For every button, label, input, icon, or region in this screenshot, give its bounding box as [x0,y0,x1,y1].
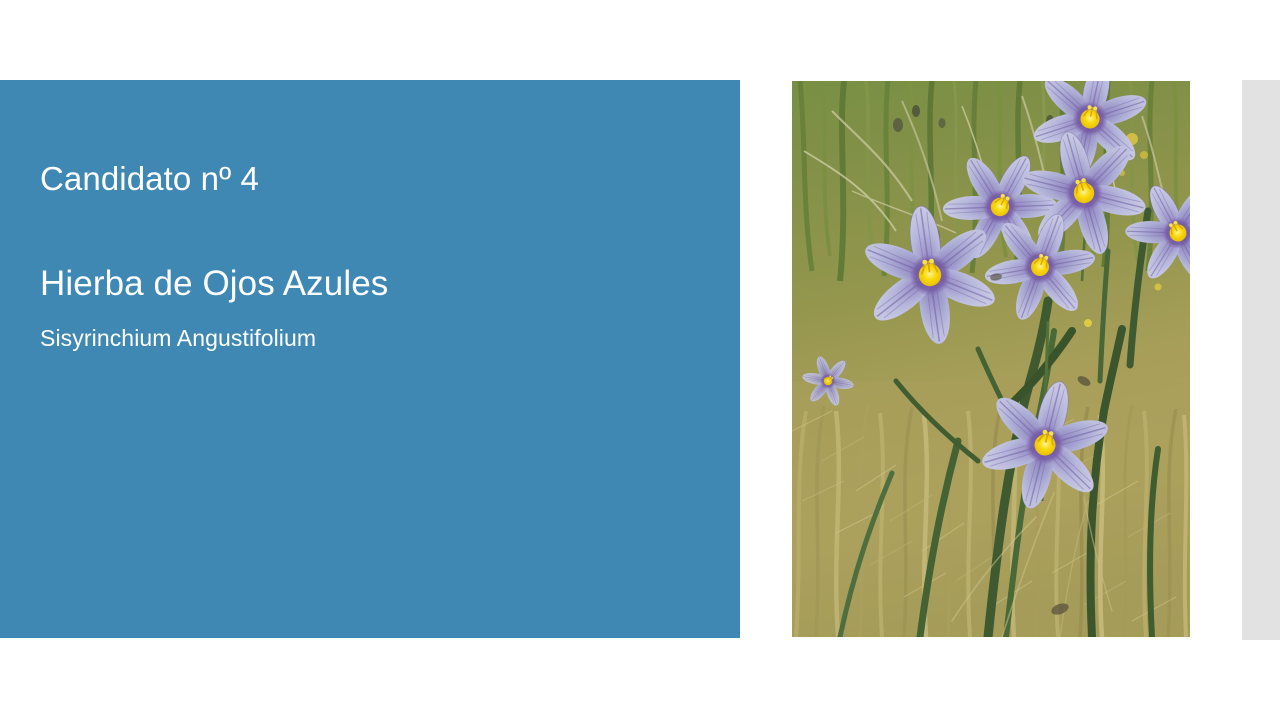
right-edge-strip [1242,80,1280,640]
candidate-label: Candidato nº 4 [40,162,259,197]
title-panel: Candidato nº 4 Hierba de Ojos Azules Sis… [0,80,740,638]
plant-scientific-name: Sisyrinchium Angustifolium [40,326,316,351]
flower-photograph [792,81,1190,637]
plant-common-name: Hierba de Ojos Azules [40,266,388,303]
flower-photograph-canvas [792,81,1190,637]
photo-light-wash [792,81,1190,637]
